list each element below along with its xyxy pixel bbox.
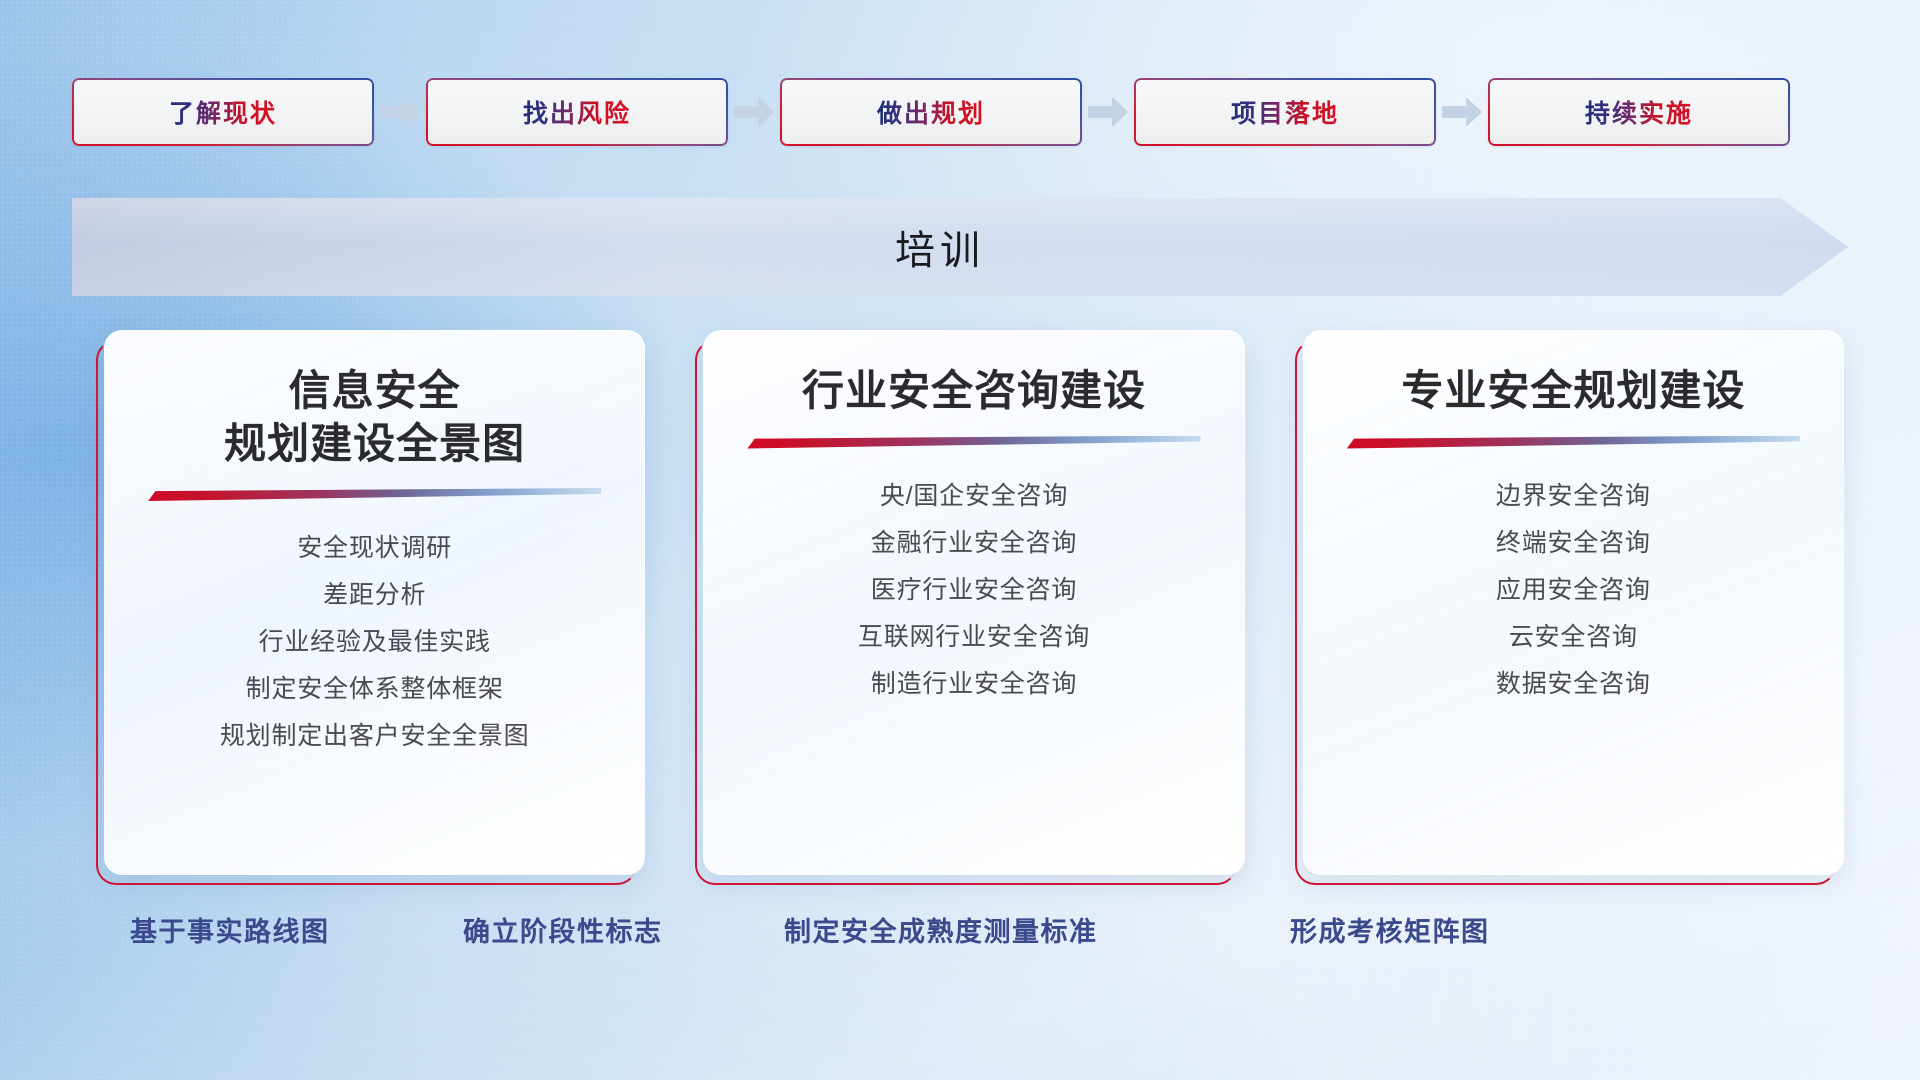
- list-item: 云安全咨询: [1509, 616, 1638, 658]
- list-item: 差距分析: [323, 574, 426, 616]
- step-label: 找出风险: [523, 94, 631, 130]
- card-item-list: 边界安全咨询 终端安全咨询 应用安全咨询 云安全咨询 数据安全咨询: [1304, 475, 1843, 705]
- list-item: 金融行业安全咨询: [871, 522, 1077, 564]
- arrow-right-icon: [728, 78, 780, 146]
- card-title: 信息安全 规划建设全景图: [105, 365, 644, 470]
- step-label: 持续实施: [1585, 94, 1693, 130]
- step-box-3[interactable]: 做出规划: [780, 78, 1082, 146]
- card-3[interactable]: 专业安全规划建设 边界安全咨询 终端安全咨询 应用安全咨询 云安全咨询 数据安全…: [1303, 330, 1844, 875]
- list-item: 应用安全咨询: [1496, 569, 1651, 611]
- step-box-2[interactable]: 找出风险: [426, 78, 728, 146]
- footer-label-row: 基于事实路线图 确立阶段性标志 制定安全成熟度测量标准 形成考核矩阵图: [0, 910, 1920, 974]
- list-item: 制定安全体系整体框架: [246, 668, 504, 710]
- card-gradient-divider: [148, 488, 601, 501]
- list-item: 安全现状调研: [297, 527, 452, 569]
- step-label: 做出规划: [877, 94, 985, 130]
- footer-label-2: 确立阶段性标志: [463, 910, 663, 949]
- footer-label-4: 形成考核矩阵图: [1290, 910, 1490, 949]
- training-banner: 培训: [72, 198, 1848, 296]
- card-1[interactable]: 信息安全 规划建设全景图 安全现状调研 差距分析 行业经验及最佳实践 制定安全体…: [104, 330, 645, 875]
- arrow-right-icon: [374, 78, 426, 146]
- list-item: 规划制定出客户安全全景图: [220, 715, 530, 757]
- card-item-list: 安全现状调研 差距分析 行业经验及最佳实践 制定安全体系整体框架 规划制定出客户…: [105, 527, 644, 757]
- process-step-strip: 了解现状 找出风险 做出规划 项目落地 持续实施: [72, 78, 1848, 146]
- banner-title: 培训: [72, 198, 1848, 296]
- card-title: 行业安全咨询建设: [704, 365, 1243, 418]
- list-item: 制造行业安全咨询: [871, 663, 1077, 705]
- card-gradient-divider: [1347, 436, 1800, 449]
- list-item: 医疗行业安全咨询: [871, 569, 1077, 611]
- service-card-row: 信息安全 规划建设全景图 安全现状调研 差距分析 行业经验及最佳实践 制定安全体…: [104, 330, 1844, 875]
- list-item: 终端安全咨询: [1496, 522, 1651, 564]
- arrow-right-icon: [1436, 78, 1488, 146]
- card-item-list: 央/国企安全咨询 金融行业安全咨询 医疗行业安全咨询 互联网行业安全咨询 制造行…: [704, 475, 1243, 705]
- card-body[interactable]: 行业安全咨询建设 央/国企安全咨询 金融行业安全咨询 医疗行业安全咨询 互联网行…: [703, 330, 1244, 875]
- card-2[interactable]: 行业安全咨询建设 央/国企安全咨询 金融行业安全咨询 医疗行业安全咨询 互联网行…: [703, 330, 1244, 875]
- footer-label-3: 制定安全成熟度测量标准: [784, 910, 1098, 949]
- list-item: 互联网行业安全咨询: [858, 616, 1090, 658]
- step-box-4[interactable]: 项目落地: [1134, 78, 1436, 146]
- list-item: 数据安全咨询: [1496, 663, 1651, 705]
- step-box-5[interactable]: 持续实施: [1488, 78, 1790, 146]
- step-label: 项目落地: [1231, 94, 1339, 130]
- list-item: 行业经验及最佳实践: [259, 621, 491, 663]
- step-label: 了解现状: [169, 94, 277, 130]
- card-body[interactable]: 信息安全 规划建设全景图 安全现状调研 差距分析 行业经验及最佳实践 制定安全体…: [104, 330, 645, 875]
- step-box-1[interactable]: 了解现状: [72, 78, 374, 146]
- card-gradient-divider: [747, 436, 1200, 449]
- arrow-right-icon: [1082, 78, 1134, 146]
- footer-label-1: 基于事实路线图: [130, 910, 330, 949]
- list-item: 央/国企安全咨询: [880, 475, 1068, 517]
- card-body[interactable]: 专业安全规划建设 边界安全咨询 终端安全咨询 应用安全咨询 云安全咨询 数据安全…: [1303, 330, 1844, 875]
- list-item: 边界安全咨询: [1496, 475, 1651, 517]
- card-title: 专业安全规划建设: [1304, 365, 1843, 418]
